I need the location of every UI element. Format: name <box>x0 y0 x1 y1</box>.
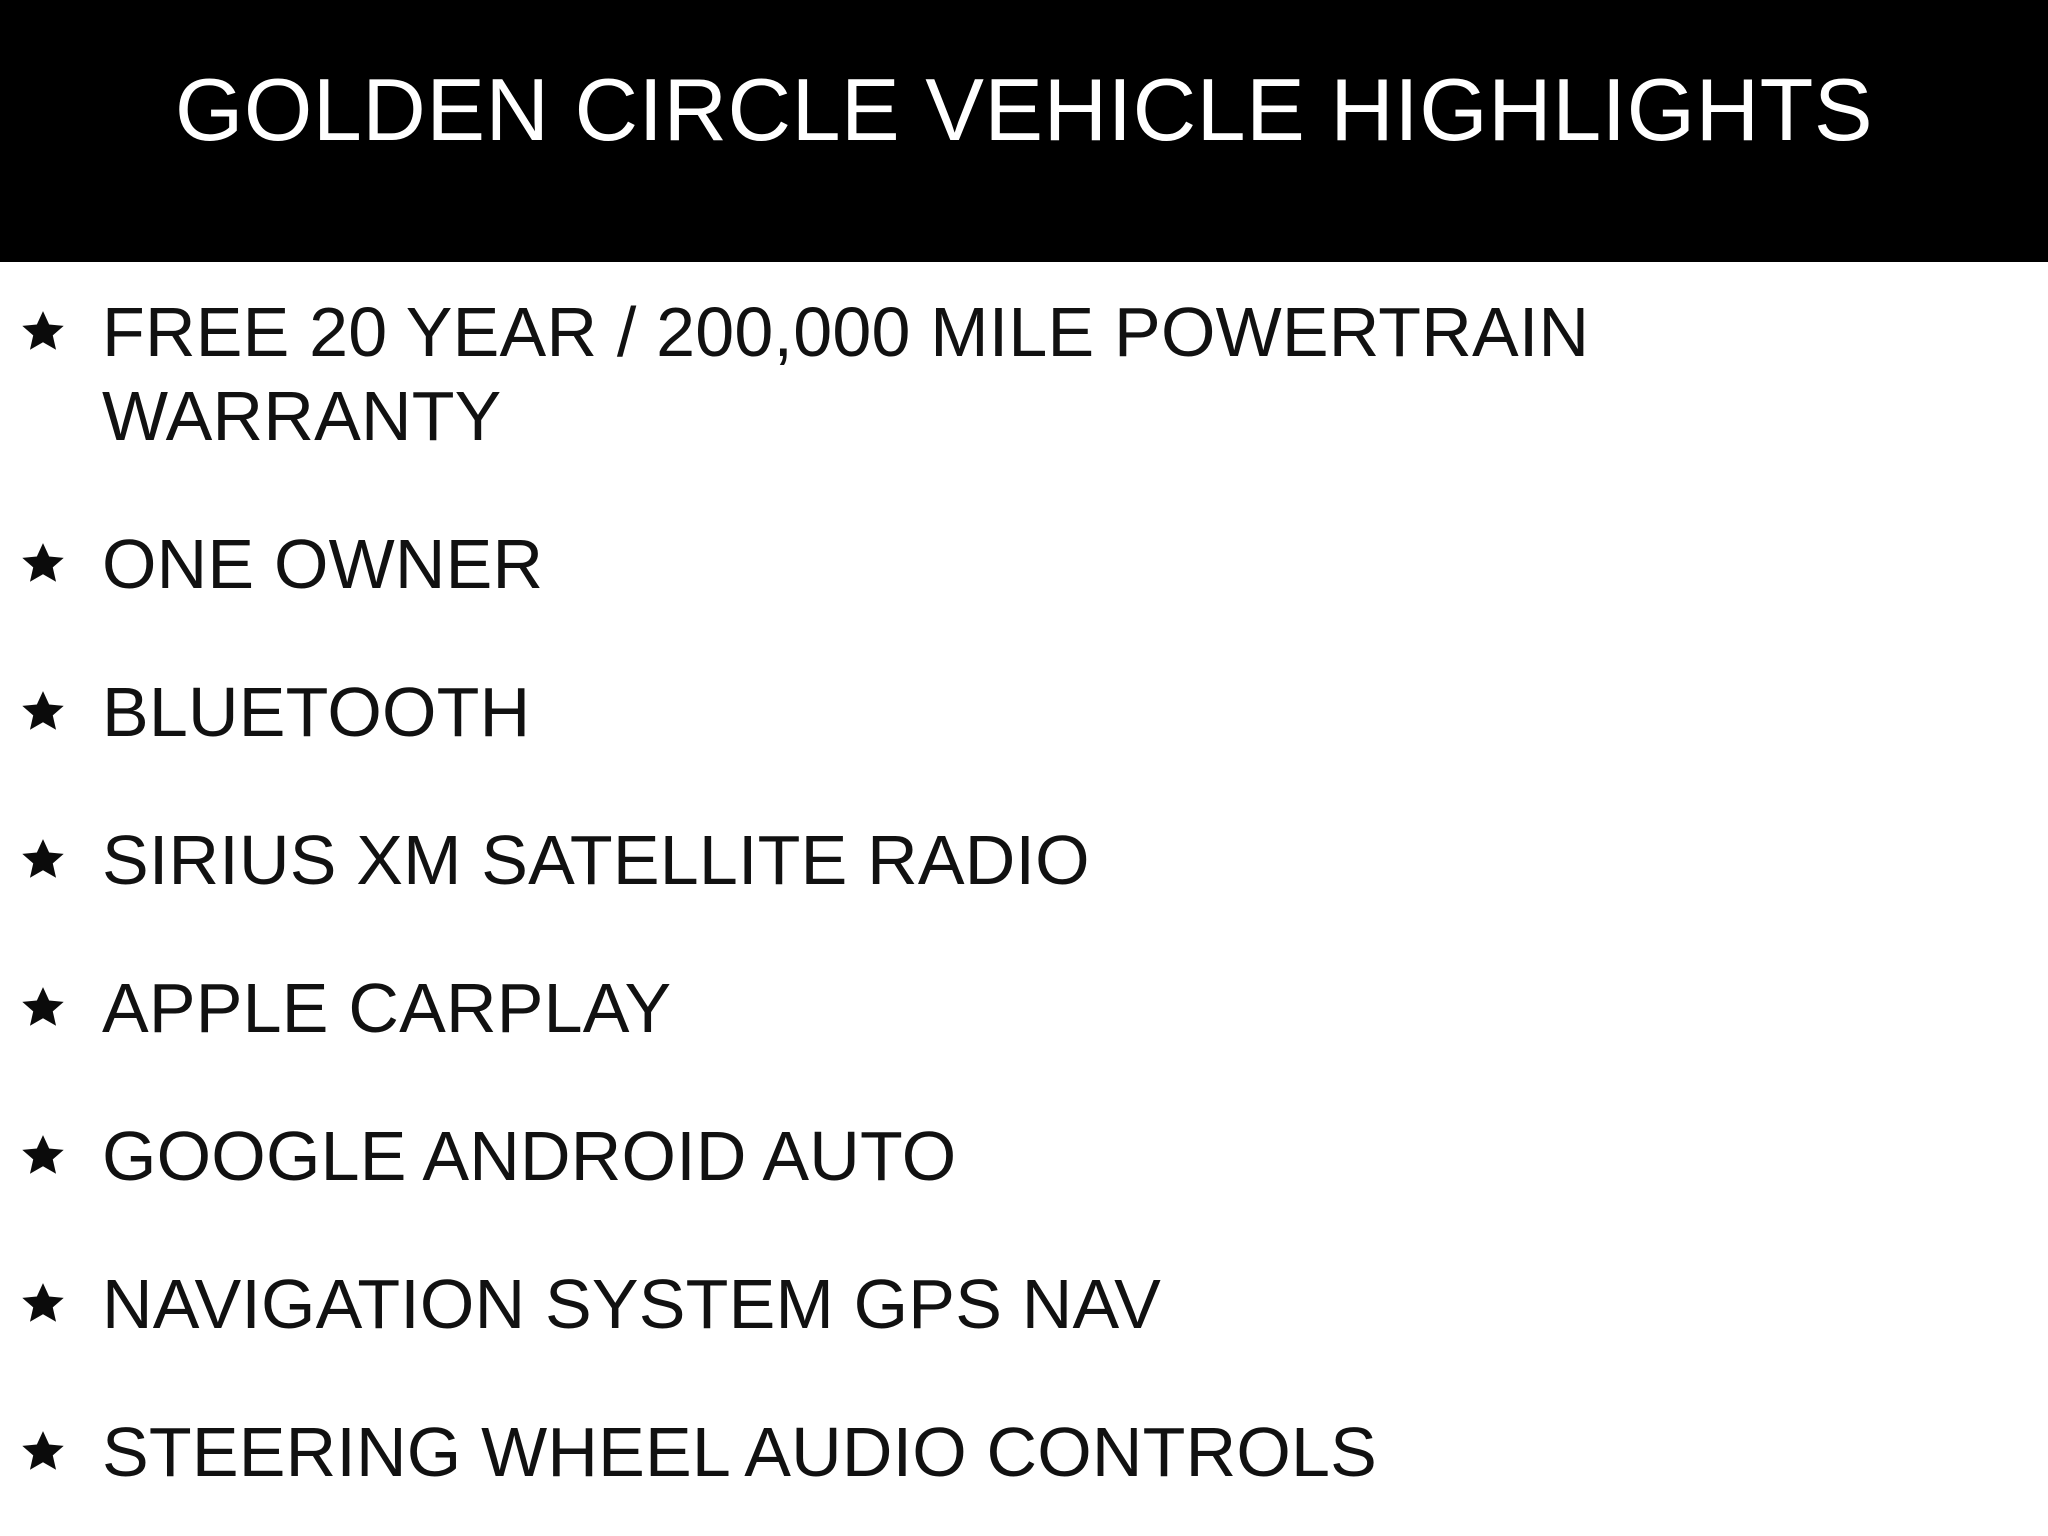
list-item: APPLE CARPLAY <box>0 966 2048 1050</box>
star-icon <box>20 308 66 354</box>
list-item-label: FREE 20 YEAR / 200,000 MILE POWERTRAIN W… <box>102 290 1802 458</box>
list-item: ONE OWNER <box>0 522 2048 606</box>
list-item: BLUETOOTH <box>0 670 2048 754</box>
list-item: GOOGLE ANDROID AUTO <box>0 1114 2048 1198</box>
list-item-label: APPLE CARPLAY <box>102 966 1802 1050</box>
star-icon <box>20 1132 66 1178</box>
star-icon <box>20 1280 66 1326</box>
star-icon <box>20 688 66 734</box>
list-item-label: BLUETOOTH <box>102 670 1802 754</box>
star-icon <box>20 836 66 882</box>
list-item-label: NAVIGATION SYSTEM GPS NAV <box>102 1262 1802 1346</box>
page-title: GOLDEN CIRCLE VEHICLE HIGHLIGHTS <box>175 64 1873 156</box>
star-icon <box>20 540 66 586</box>
highlights-list: FREE 20 YEAR / 200,000 MILE POWERTRAIN W… <box>0 262 2048 1536</box>
vehicle-highlights-page: GOLDEN CIRCLE VEHICLE HIGHLIGHTS FREE 20… <box>0 0 2048 1536</box>
list-item: NAVIGATION SYSTEM GPS NAV <box>0 1262 2048 1346</box>
list-item: FREE 20 YEAR / 200,000 MILE POWERTRAIN W… <box>0 290 2048 458</box>
list-item-label: GOOGLE ANDROID AUTO <box>102 1114 1802 1198</box>
header-band: GOLDEN CIRCLE VEHICLE HIGHLIGHTS <box>0 0 2048 262</box>
list-item-label: SIRIUS XM SATELLITE RADIO <box>102 818 1802 902</box>
list-item: STEERING WHEEL AUDIO CONTROLS <box>0 1410 2048 1494</box>
list-item: SIRIUS XM SATELLITE RADIO <box>0 818 2048 902</box>
star-icon <box>20 1428 66 1474</box>
star-icon <box>20 984 66 1030</box>
list-item-label: ONE OWNER <box>102 522 1802 606</box>
list-item-label: STEERING WHEEL AUDIO CONTROLS <box>102 1410 1802 1494</box>
